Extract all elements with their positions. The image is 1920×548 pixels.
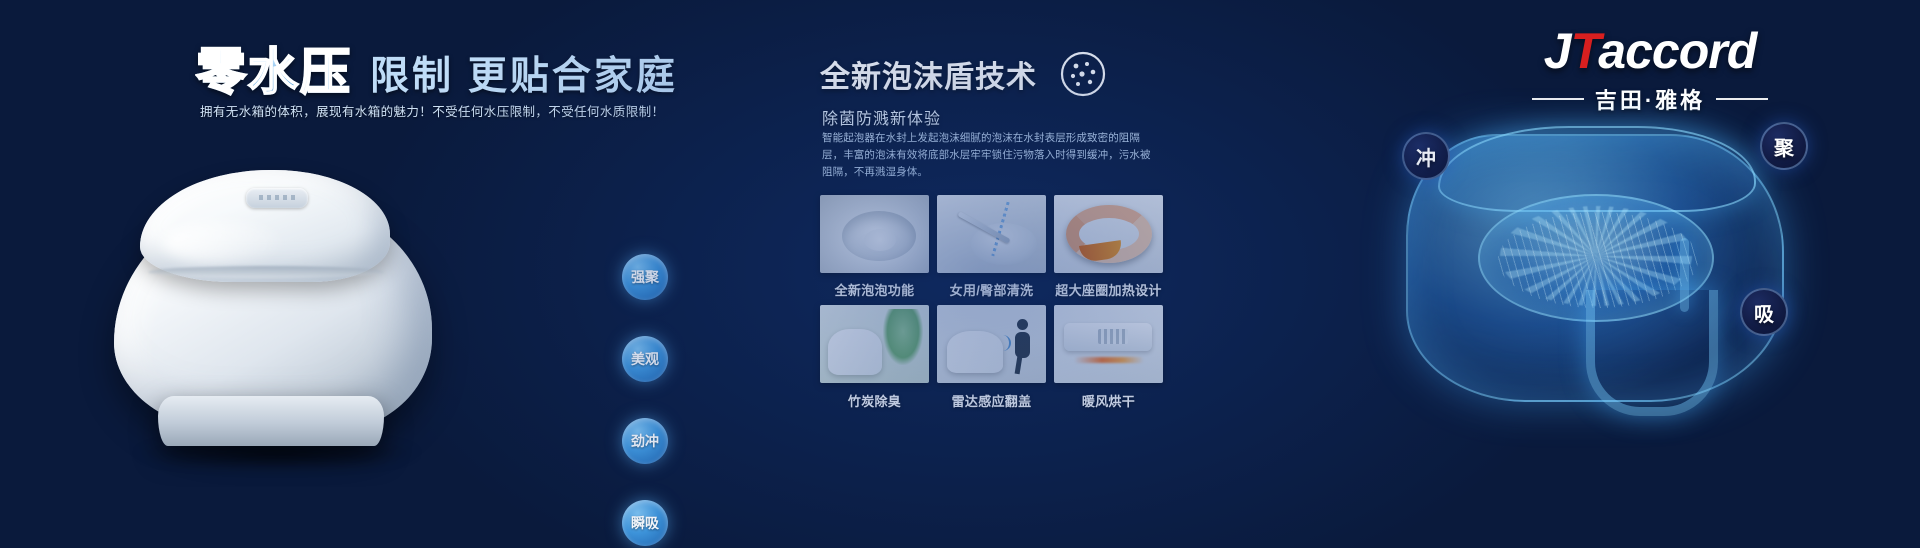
- feature-thumb-radar-lid: [937, 305, 1046, 383]
- logo-divider-right: [1716, 98, 1768, 100]
- brand-logo-cn: 吉田·雅格: [1595, 83, 1705, 115]
- product-photo-toilet: [96, 130, 476, 460]
- feature-thumb-heated-seat: [1054, 195, 1163, 273]
- product-seam: [148, 266, 384, 278]
- hero-headline-accent: 零水压: [196, 32, 352, 104]
- product-control-panel: [246, 188, 308, 208]
- foam-tech-title-row: 全新泡沫盾技术: [820, 50, 1107, 98]
- foam-tech-description: 智能起泡器在水封上发起泡沫细腻的泡沫在水封表层形成致密的阻隔层，丰富的泡沫有效将…: [822, 130, 1152, 181]
- hero-heading: 零水压 限制 更贴合家庭: [196, 32, 678, 104]
- logo-letters-accord: accord: [1598, 23, 1756, 79]
- product-highlight: [162, 222, 282, 262]
- feature-label-radar-lid: 雷达感应翻盖: [937, 391, 1046, 410]
- brand-logo-cn-row: 吉田·雅格: [1470, 83, 1830, 115]
- feature-label-foam: 全新泡泡功能: [820, 280, 929, 299]
- feature-thumb-wash: [937, 195, 1046, 273]
- foam-tech-subtitle: 除菌防溅新体验: [822, 105, 941, 129]
- right-panel: JTaccord 吉田·雅格 冲 聚 吸: [1220, 0, 1920, 548]
- feature-thumb-warm-dry: [1054, 305, 1163, 383]
- feature-label-wash: 女用/臀部清洗: [937, 280, 1046, 299]
- feature-cell-heated-seat[interactable]: 超大座圈加热设计: [1054, 195, 1163, 299]
- feature-grid-row-2: 竹炭除臭 雷达感应翻盖 暖风烘干: [820, 305, 1162, 410]
- feature-label-warm-dry: 暖风烘干: [1054, 391, 1163, 410]
- left-panel: 零水压 限制 更贴合家庭 拥有无水箱的体积，展现有水箱的魅力！不受任何水压限制，…: [0, 0, 660, 548]
- feature-cell-foam[interactable]: 全新泡泡功能: [820, 195, 929, 299]
- feature-cell-warm-dry[interactable]: 暖风烘干: [1054, 305, 1163, 410]
- feature-grid-row-1: 全新泡泡功能 女用/臀部清洗 超大座圈加热设计: [820, 195, 1162, 299]
- feature-grid: 全新泡泡功能 女用/臀部清洗 超大座圈加热设计 竹炭除臭: [820, 195, 1162, 416]
- feature-cell-radar-lid[interactable]: 雷达感应翻盖: [937, 305, 1046, 410]
- diagram-badge-suction[interactable]: 吸: [1740, 288, 1788, 336]
- feature-label-deodorize: 竹炭除臭: [820, 391, 929, 410]
- feature-label-heated-seat: 超大座圈加热设计: [1054, 280, 1163, 299]
- foam-tech-title: 全新泡沫盾技术: [820, 52, 1037, 96]
- bubble-shield-icon: [1059, 50, 1107, 98]
- feature-cell-deodorize[interactable]: 竹炭除臭: [820, 305, 929, 410]
- hero-headline-rest: 限制 更贴合家庭: [370, 45, 678, 101]
- xray-siphon-trap: [1586, 290, 1718, 416]
- brand-logo-wordmark: JTaccord: [1470, 26, 1830, 76]
- feature-cell-wash[interactable]: 女用/臀部清洗: [937, 195, 1046, 299]
- diagram-badge-gather[interactable]: 聚: [1760, 122, 1808, 170]
- logo-letter-j: J: [1544, 23, 1571, 79]
- logo-letter-t: T: [1571, 23, 1599, 79]
- center-panel: 全新泡沫盾技术 除菌防溅新体验 智能起泡器在水封上发起泡沫细腻的泡沫在水封表层形…: [660, 0, 1220, 548]
- product-base: [158, 396, 384, 446]
- brand-logo: JTaccord 吉田·雅格: [1470, 26, 1830, 115]
- feature-thumb-foam: [820, 195, 929, 273]
- logo-divider-left: [1532, 98, 1584, 100]
- promo-banner: 零水压 限制 更贴合家庭 拥有无水箱的体积，展现有水箱的魅力！不受任何水压限制，…: [0, 0, 1920, 548]
- diagram-badge-flush[interactable]: 冲: [1402, 132, 1450, 180]
- feature-thumb-deodorize: [820, 305, 929, 383]
- hero-subtitle: 拥有无水箱的体积，展现有水箱的魅力！不受任何水压限制，不受任何水质限制！: [200, 101, 664, 120]
